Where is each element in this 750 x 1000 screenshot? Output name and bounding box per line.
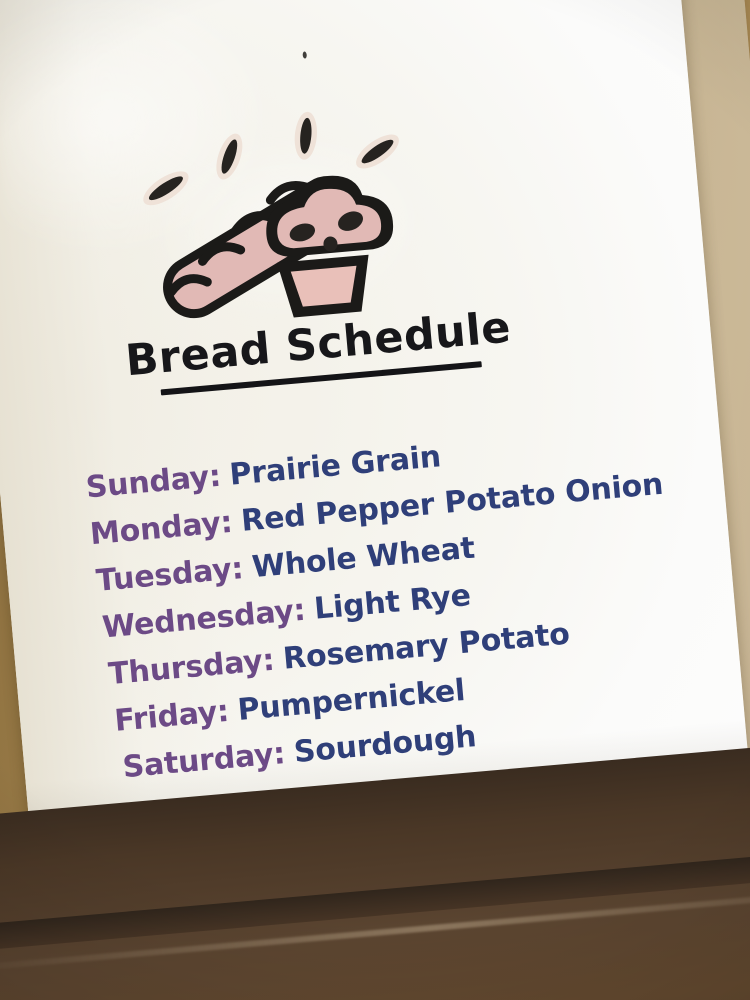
day-label: Monday: — [89, 505, 234, 552]
bread-label: Light Rye — [313, 578, 472, 627]
photo-scene: Bread Schedule Sunday:Prairie Grain Mond… — [0, 0, 750, 1000]
day-label: Tuesday: — [95, 551, 245, 599]
day-label: Sunday: — [84, 459, 222, 506]
bread-and-muffin-illustration — [118, 94, 436, 335]
day-label: Friday: — [113, 694, 230, 739]
